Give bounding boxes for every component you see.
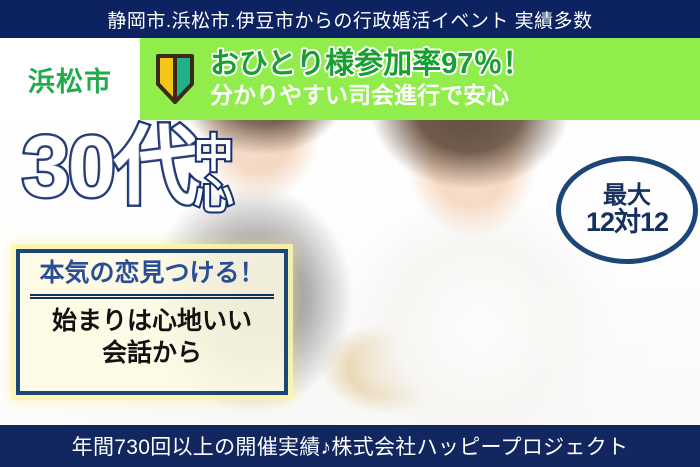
- capacity-badge-line1: 最大: [603, 183, 651, 208]
- age-sub-text: 中 心: [194, 134, 234, 216]
- participation-rate-text: おひとり様参加率97％！: [210, 49, 531, 80]
- message-box-divider: [30, 294, 274, 299]
- capacity-badge-line2: 12対12: [586, 208, 668, 236]
- age-headline: 30代 中 心: [22, 128, 234, 216]
- beginner-leaf-mark-icon: [146, 53, 204, 105]
- top-banner: 静岡市.浜松市.伊豆市からの行政婚活イベント 実績多数: [0, 0, 700, 38]
- age-main-text: 30代: [22, 128, 198, 207]
- bottom-banner: 年間730回以上の開催実績♪株式会社ハッピープロジェクト: [0, 425, 700, 467]
- capacity-badge: 最大 12対12: [556, 156, 698, 264]
- city-label-cell: 浜松市: [0, 38, 140, 120]
- message-box-headline: 本気の恋見つける！: [39, 260, 264, 288]
- green-text-group: おひとり様参加率97％！ 分かりやすい司会進行で安心: [204, 49, 531, 109]
- message-box-subline1: 始まりは心地いい: [52, 305, 252, 337]
- green-message-cell: おひとり様参加率97％！ 分かりやすい司会進行で安心: [140, 38, 700, 120]
- age-sub-top: 中: [194, 134, 234, 175]
- top-banner-text: 静岡市.浜松市.伊豆市からの行政婚活イベント 実績多数: [107, 6, 592, 33]
- event-promo-banner: 静岡市.浜松市.伊豆市からの行政婚活イベント 実績多数 浜松市 おひとり様参加率…: [0, 0, 700, 467]
- message-box-subline2: 会話から: [102, 337, 202, 369]
- city-label: 浜松市: [28, 60, 112, 99]
- message-box: 本気の恋見つける！ 始まりは心地いい 会話から: [16, 249, 288, 395]
- age-sub-bottom: 心: [194, 175, 234, 216]
- green-highlight-band: 浜松市 おひとり様参加率97％！ 分かりやすい司会進行で安心: [0, 38, 700, 120]
- mc-guidance-text: 分かりやすい司会進行で安心: [210, 82, 531, 108]
- bottom-banner-text: 年間730回以上の開催実績♪株式会社ハッピープロジェクト: [72, 431, 629, 461]
